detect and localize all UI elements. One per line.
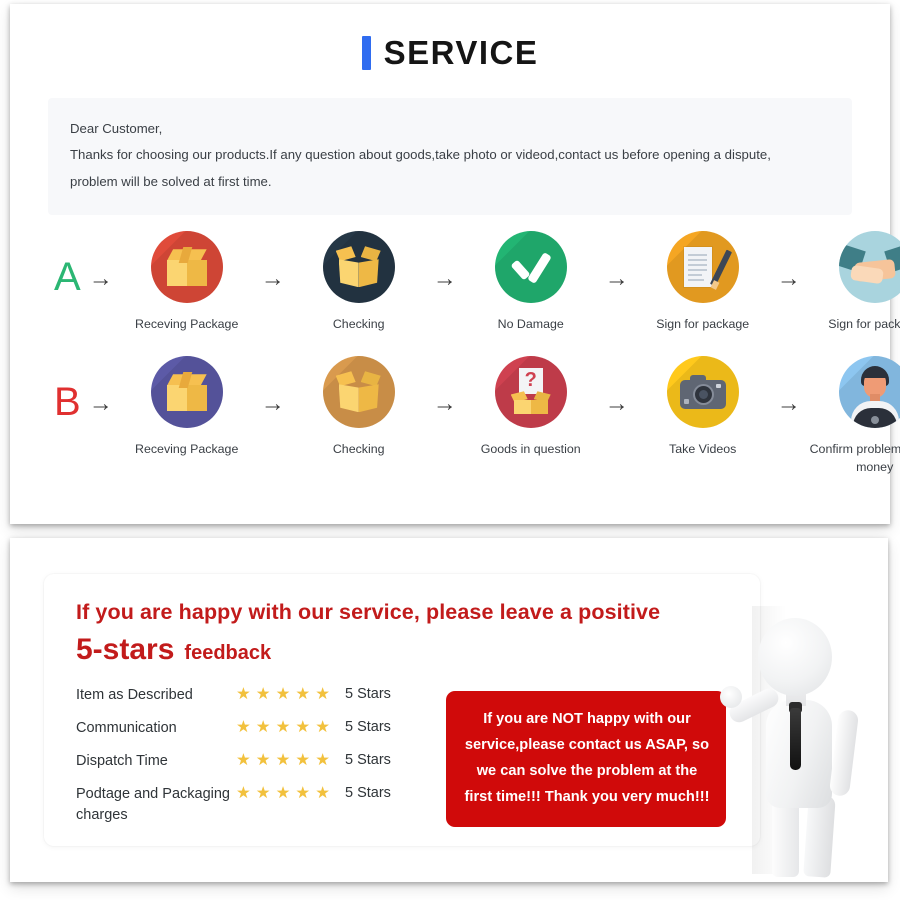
row-letter-a: A xyxy=(54,231,81,297)
rating-label: Item as Described xyxy=(76,685,236,706)
flow-step-b5: Confirm problem,refund money xyxy=(809,356,900,477)
star-icon: ★ xyxy=(295,785,310,802)
flow-step-label: Sign for package xyxy=(656,316,749,334)
star-icon: ★ xyxy=(295,719,310,736)
3d-mannequin-figure xyxy=(722,590,882,880)
page-title: SERVICE xyxy=(10,34,890,72)
rating-label: Podtage and Packaging charges xyxy=(76,784,236,826)
open-box-icon xyxy=(323,231,395,303)
not-happy-warning-box: If you are NOT happy with our service,pl… xyxy=(446,691,726,827)
star-icon: ★ xyxy=(256,719,271,736)
flow-step-label: Take Videos xyxy=(669,441,736,459)
feedback-card: If you are happy with our service, pleas… xyxy=(44,574,760,846)
rating-value: 5 Stars xyxy=(345,686,391,702)
flow-step-a3: No Damage xyxy=(465,231,597,334)
flow-step-a1: Receving Package xyxy=(121,231,253,334)
star-icon: ★ xyxy=(315,719,330,736)
closed-box-icon xyxy=(151,356,223,428)
notice-line-3: problem will be solved at first time. xyxy=(70,169,830,195)
star-icon: ★ xyxy=(315,686,330,703)
notice-line-1: Dear Customer, xyxy=(70,116,830,142)
flow-step-a4: Sign for package xyxy=(637,231,769,334)
rating-stars: ★ ★ ★ ★ ★ 5 Stars xyxy=(236,718,391,736)
star-icon: ★ xyxy=(236,785,251,802)
star-icon: ★ xyxy=(315,752,330,769)
camera-icon xyxy=(667,356,739,428)
rating-label: Communication xyxy=(76,718,236,739)
feedback-subheadline: 5-stars feedback xyxy=(76,633,760,667)
notice-line-2: Thanks for choosing our products.If any … xyxy=(70,142,830,168)
rating-value: 5 Stars xyxy=(345,752,391,768)
closed-box-icon xyxy=(151,231,223,303)
star-icon: ★ xyxy=(276,752,291,769)
rating-value: 5 Stars xyxy=(345,719,391,735)
flow-step-label: Receving Package xyxy=(135,316,238,334)
arrow-icon: → xyxy=(253,231,293,291)
open-box-icon xyxy=(323,356,395,428)
arrow-icon: → xyxy=(597,356,637,416)
arrow-icon: → xyxy=(769,231,809,291)
rating-row: Item as Described ★ ★ ★ ★ ★ 5 Stars xyxy=(76,685,446,706)
star-icon: ★ xyxy=(236,752,251,769)
feedback-panel: If you are happy with our service, pleas… xyxy=(10,538,888,882)
arrow-icon: → xyxy=(425,231,465,291)
flow-step-a5: Sign for package xyxy=(809,231,900,334)
rating-row: Podtage and Packaging charges ★ ★ ★ ★ ★ … xyxy=(76,784,446,826)
flow-step-label: Receving Package xyxy=(135,441,238,459)
star-icon: ★ xyxy=(295,752,310,769)
star-icon: ★ xyxy=(276,719,291,736)
person-icon xyxy=(839,356,900,428)
star-icon: ★ xyxy=(315,785,330,802)
flow-step-b2: Checking xyxy=(293,356,425,459)
ratings-list: Item as Described ★ ★ ★ ★ ★ 5 Stars Comm… xyxy=(76,685,446,838)
service-panel: SERVICE Dear Customer, Thanks for choosi… xyxy=(10,4,890,524)
flow-step-label: No Damage xyxy=(498,316,564,334)
rating-stars: ★ ★ ★ ★ ★ 5 Stars xyxy=(236,685,391,703)
feedback-headline: If you are happy with our service, pleas… xyxy=(76,600,760,625)
stars-count-text: 5-stars xyxy=(76,633,174,667)
rating-row: Communication ★ ★ ★ ★ ★ 5 Stars xyxy=(76,718,446,739)
rating-stars: ★ ★ ★ ★ ★ 5 Stars xyxy=(236,784,391,802)
star-icon: ★ xyxy=(256,686,271,703)
arrow-icon: → xyxy=(253,356,293,416)
rating-stars: ★ ★ ★ ★ ★ 5 Stars xyxy=(236,751,391,769)
flow-step-label: Checking xyxy=(333,316,385,334)
rating-label: Dispatch Time xyxy=(76,751,236,772)
page-root: SERVICE Dear Customer, Thanks for choosi… xyxy=(0,0,900,900)
flow-step-label: Checking xyxy=(333,441,385,459)
flow-step-b3: ? Goods in question xyxy=(465,356,597,459)
question-box-icon: ? xyxy=(495,356,567,428)
document-pen-icon xyxy=(667,231,739,303)
star-icon: ★ xyxy=(236,686,251,703)
handshake-icon xyxy=(839,231,900,303)
star-icon: ★ xyxy=(256,752,271,769)
title-accent-bar xyxy=(362,36,371,70)
feedback-body: Item as Described ★ ★ ★ ★ ★ 5 Stars Comm… xyxy=(76,685,760,838)
arrow-icon: → xyxy=(425,356,465,416)
flow-step-b1: Receving Package xyxy=(121,356,253,459)
row-letter-b: B xyxy=(54,356,81,422)
flow-step-label: Goods in question xyxy=(481,441,581,459)
feedback-word: feedback xyxy=(184,642,271,665)
arrow-icon: → xyxy=(81,356,121,416)
title-text: SERVICE xyxy=(384,34,539,72)
arrow-icon: → xyxy=(81,231,121,291)
rating-row: Dispatch Time ★ ★ ★ ★ ★ 5 Stars xyxy=(76,751,446,772)
customer-notice-box: Dear Customer, Thanks for choosing our p… xyxy=(48,98,852,215)
arrow-icon: → xyxy=(769,356,809,416)
star-icon: ★ xyxy=(276,686,291,703)
star-icon: ★ xyxy=(256,785,271,802)
star-icon: ★ xyxy=(236,719,251,736)
flow-row-a: A → Receving Package → Checking → xyxy=(10,231,890,334)
flow-step-label: Confirm problem,refund money xyxy=(809,441,900,477)
flow-step-a2: Checking xyxy=(293,231,425,334)
flow-step-b4: Take Videos xyxy=(637,356,769,459)
rating-value: 5 Stars xyxy=(345,785,391,801)
check-mark-icon xyxy=(495,231,567,303)
flow-row-b: B → Receving Package → Checking → xyxy=(10,356,890,477)
star-icon: ★ xyxy=(295,686,310,703)
flow-step-label: Sign for package xyxy=(828,316,900,334)
arrow-icon: → xyxy=(597,231,637,291)
star-icon: ★ xyxy=(276,785,291,802)
